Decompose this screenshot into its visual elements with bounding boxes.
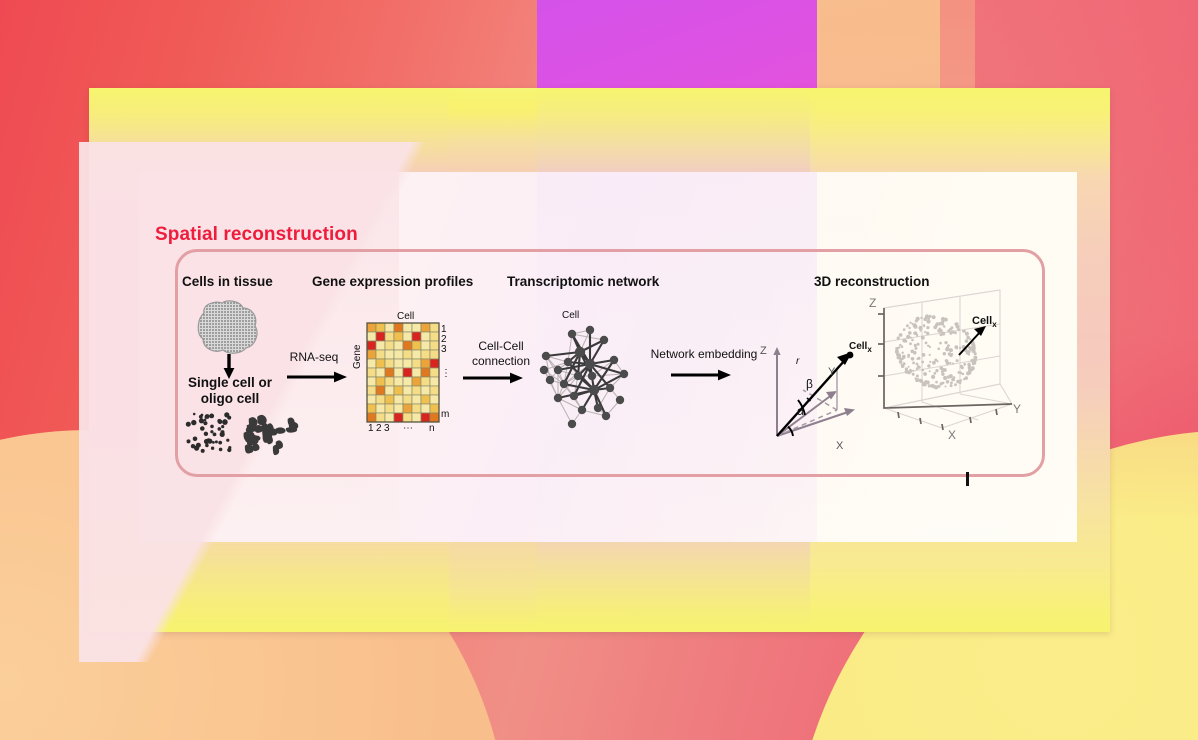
vector-label-r: r [796,356,799,367]
vector-point-label: Cellx [849,341,872,354]
stage-header-gene-expression-profiles: Gene expression profiles [312,274,473,289]
matrix-col-tick-n: n [429,423,435,434]
vector-axis-label-x: X [836,440,843,452]
vector-label-alpha: α [797,404,804,418]
matrix-col-tick-3: 3 [384,423,390,434]
scatter-axis-label-y: Y [1013,402,1021,416]
frame-tick-icon [966,472,969,486]
vector-axis-label-z: Z [760,345,767,357]
matrix-row-tick-m: m [441,409,449,420]
vector-axis-label-y: Y [828,366,835,378]
stage-header-cells-in-tissue: Cells in tissue [182,274,273,289]
scatter-annotation-sub: x [992,320,996,329]
arrow-rna-seq-icon [287,370,349,384]
figure-title: Spatial reconstruction [155,224,358,246]
matrix-row-tick-ellipsis: ⋮ [441,368,451,379]
arrow-cell-cell-connection-icon [463,371,525,385]
figure-canvas: Spatial reconstruction Cells in tissue S… [0,0,1198,740]
matrix-col-tick-1: 1 [368,423,374,434]
3d-scatter-plot [872,300,1024,440]
scatter-annotation-arrow-icon [955,324,989,358]
stage-sublabel-line2: oligo cell [178,391,282,406]
oligo-cell-blobs-icon [239,411,295,453]
vector-point-label-text: Cell [849,341,867,352]
stage-sublabel-line1: Single cell or [178,375,282,390]
transcriptomic-network-graph [528,318,652,442]
scatter-axis-label-x: X [948,428,956,442]
spherical-coordinate-diagram [755,338,867,454]
matrix-axis-label-cell: Cell [397,311,414,322]
tissue-blob-icon [194,299,262,355]
vector-label-beta: β [806,377,813,391]
single-cell-dots-icon [183,411,233,453]
matrix-col-tick-ellipsis: ⋯ [403,423,413,434]
matrix-col-tick-2: 2 [376,423,382,434]
stage-header-transcriptomic-network: Transcriptomic network [507,274,659,289]
matrix-row-tick-3: 3 [441,344,447,355]
stage-header-3d-reconstruction: 3D reconstruction [814,274,930,289]
gene-expression-heatmap [367,323,439,422]
arrow-network-embedding-icon [671,368,733,382]
arrow-label-rna-seq: RNA-seq [277,350,351,364]
arrow-label-network-embedding: Network embedding [646,347,762,361]
matrix-axis-label-gene: Gene [352,345,363,369]
scatter-axis-label-z: Z [869,296,876,310]
